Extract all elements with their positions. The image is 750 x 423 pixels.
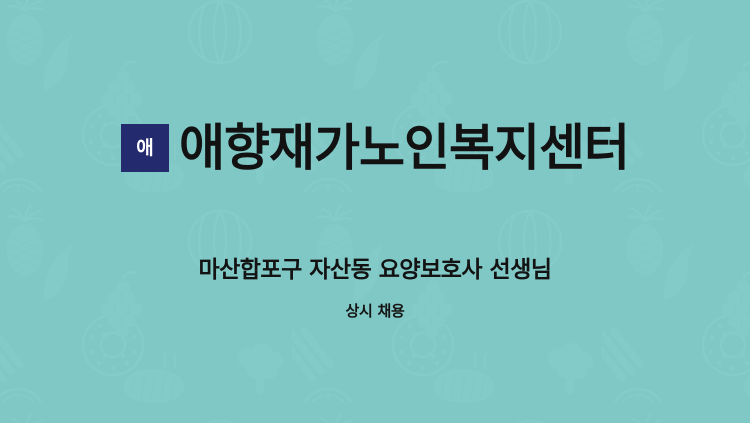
recruitment-banner: 애 애향재가노인복지센터 마산합포구 자산동 요양보호사 선생님 상시 채용 xyxy=(0,0,750,423)
logo-badge-label: 애 xyxy=(136,139,153,158)
job-position-subtitle: 마산합포구 자산동 요양보호사 선생님 xyxy=(198,250,551,284)
organization-logo-badge: 애 xyxy=(121,124,169,172)
banner-content: 애 애향재가노인복지센터 마산합포구 자산동 요양보호사 선생님 상시 채용 xyxy=(0,0,750,423)
organization-title: 애향재가노인복지센터 xyxy=(179,122,629,175)
hiring-status-tagline: 상시 채용 xyxy=(346,300,405,321)
title-row: 애 애향재가노인복지센터 xyxy=(121,88,629,208)
